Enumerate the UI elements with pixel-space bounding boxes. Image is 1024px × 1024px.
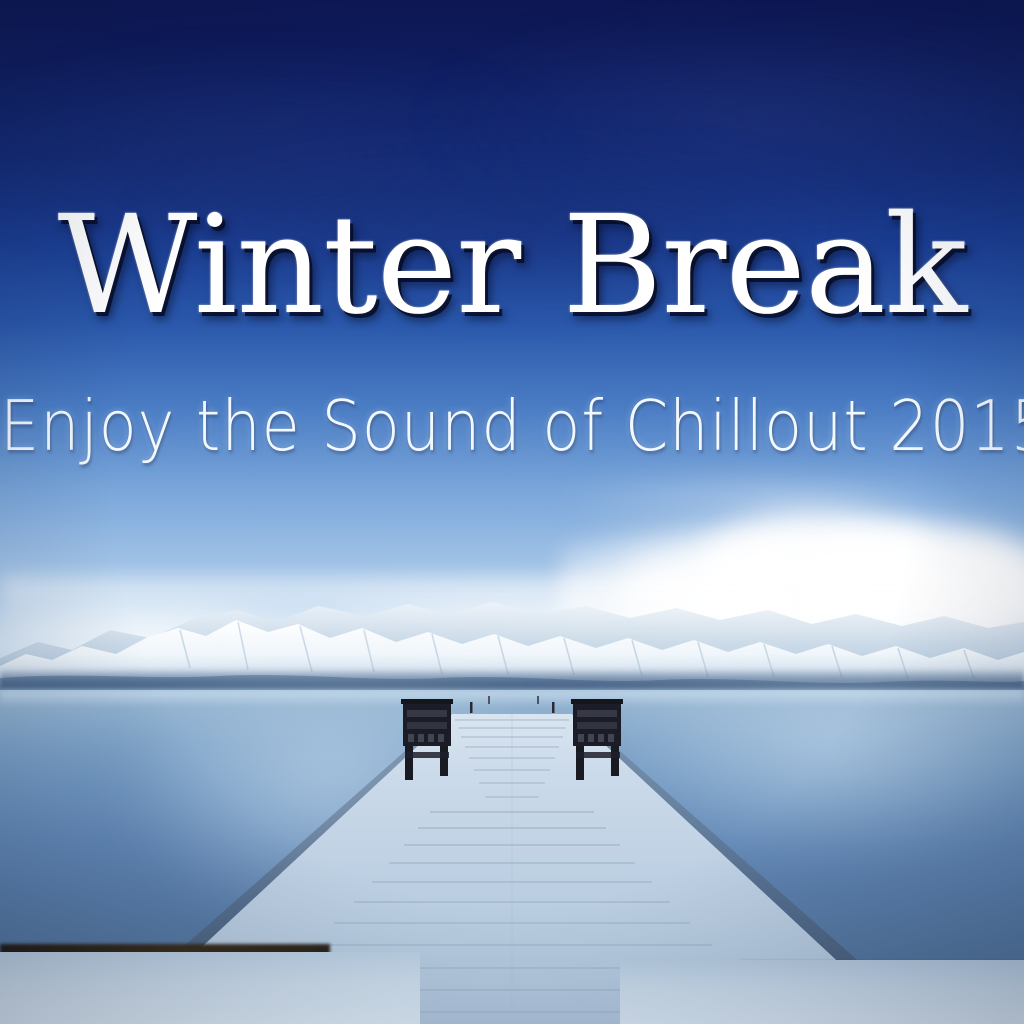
- snow-shore-left: [0, 952, 420, 1024]
- mountain-base-shadow: [0, 668, 1024, 692]
- album-cover: Winter Break Enjoy the Sound of Chillout…: [0, 0, 1024, 1024]
- snow-shore-right: [620, 960, 1024, 1024]
- pier-distant-posts: [470, 696, 555, 713]
